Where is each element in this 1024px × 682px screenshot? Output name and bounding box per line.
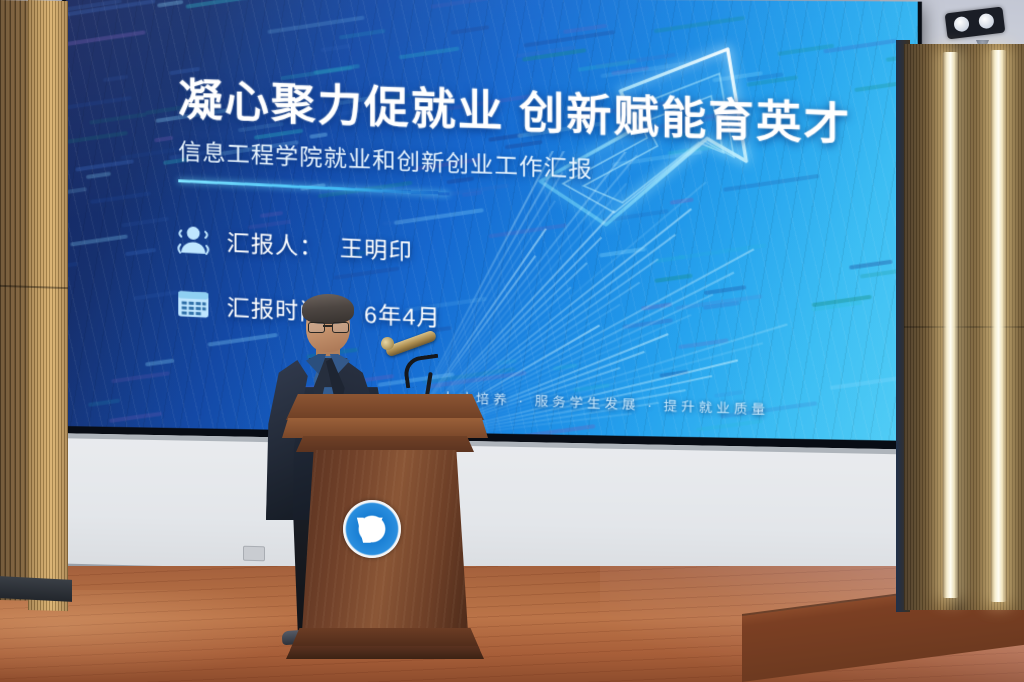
slide-content: 凝心聚力促就业 创新赋能育英才 信息工程学院就业和创新创业工作汇报 汇报人： 王… <box>66 0 918 441</box>
podium <box>286 394 484 666</box>
podium-top <box>286 394 484 420</box>
person-icon <box>176 222 210 256</box>
crest-outer-ring <box>343 500 401 558</box>
presenter-name: 王明印 <box>340 229 413 267</box>
podium-lip <box>282 418 488 438</box>
podium-neck <box>296 436 474 452</box>
left-wall-base <box>0 576 72 602</box>
calendar-icon <box>176 287 210 321</box>
presenter-row: 汇报人： 王明印 <box>176 221 413 266</box>
podium-foot <box>286 646 484 659</box>
left-wood-pillar <box>28 0 68 611</box>
glasses-bridge <box>323 325 333 327</box>
presenter-hair <box>302 294 354 324</box>
led-screen: 凝心聚力促就业 创新赋能育英才 信息工程学院就业和创新创业工作汇报 汇报人： 王… <box>66 0 918 441</box>
light-strip-2 <box>990 50 1007 602</box>
presenter-label: 汇报人： <box>227 224 324 263</box>
presentation-scene: 凝心聚力促就业 创新赋能育英才 信息工程学院就业和创新创业工作汇报 汇报人： 王… <box>0 0 1024 682</box>
led-screen-bezel: 凝心聚力促就业 创新赋能育英才 信息工程学院就业和创新创业工作汇报 汇报人： 王… <box>62 0 922 455</box>
slide-tagline: 人才培养 · 服务学生发展 · 提升就业质量 <box>441 387 769 419</box>
light-strip-1 <box>942 52 959 598</box>
slide-divider <box>178 179 449 195</box>
